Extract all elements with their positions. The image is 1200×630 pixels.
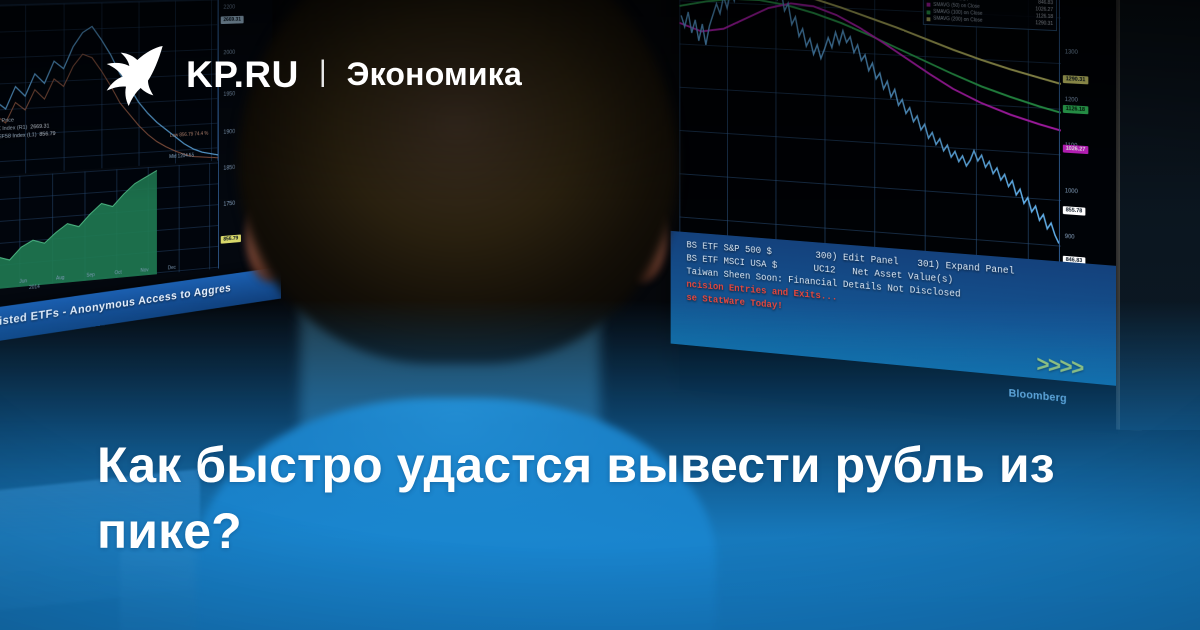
brand-header[interactable]: KP.RU | Экономика [98, 42, 522, 106]
headline-title: Как быстро удастся вывести рубль из пике… [97, 432, 1117, 564]
swallow-bird-icon [98, 42, 166, 106]
section-label-economy[interactable]: Экономика [347, 58, 522, 90]
brand-name[interactable]: KP.RU [186, 56, 299, 93]
brand-separator: | [319, 57, 327, 87]
share-card: Track Annotate News Zoom Last Price SPX … [0, 0, 1200, 630]
